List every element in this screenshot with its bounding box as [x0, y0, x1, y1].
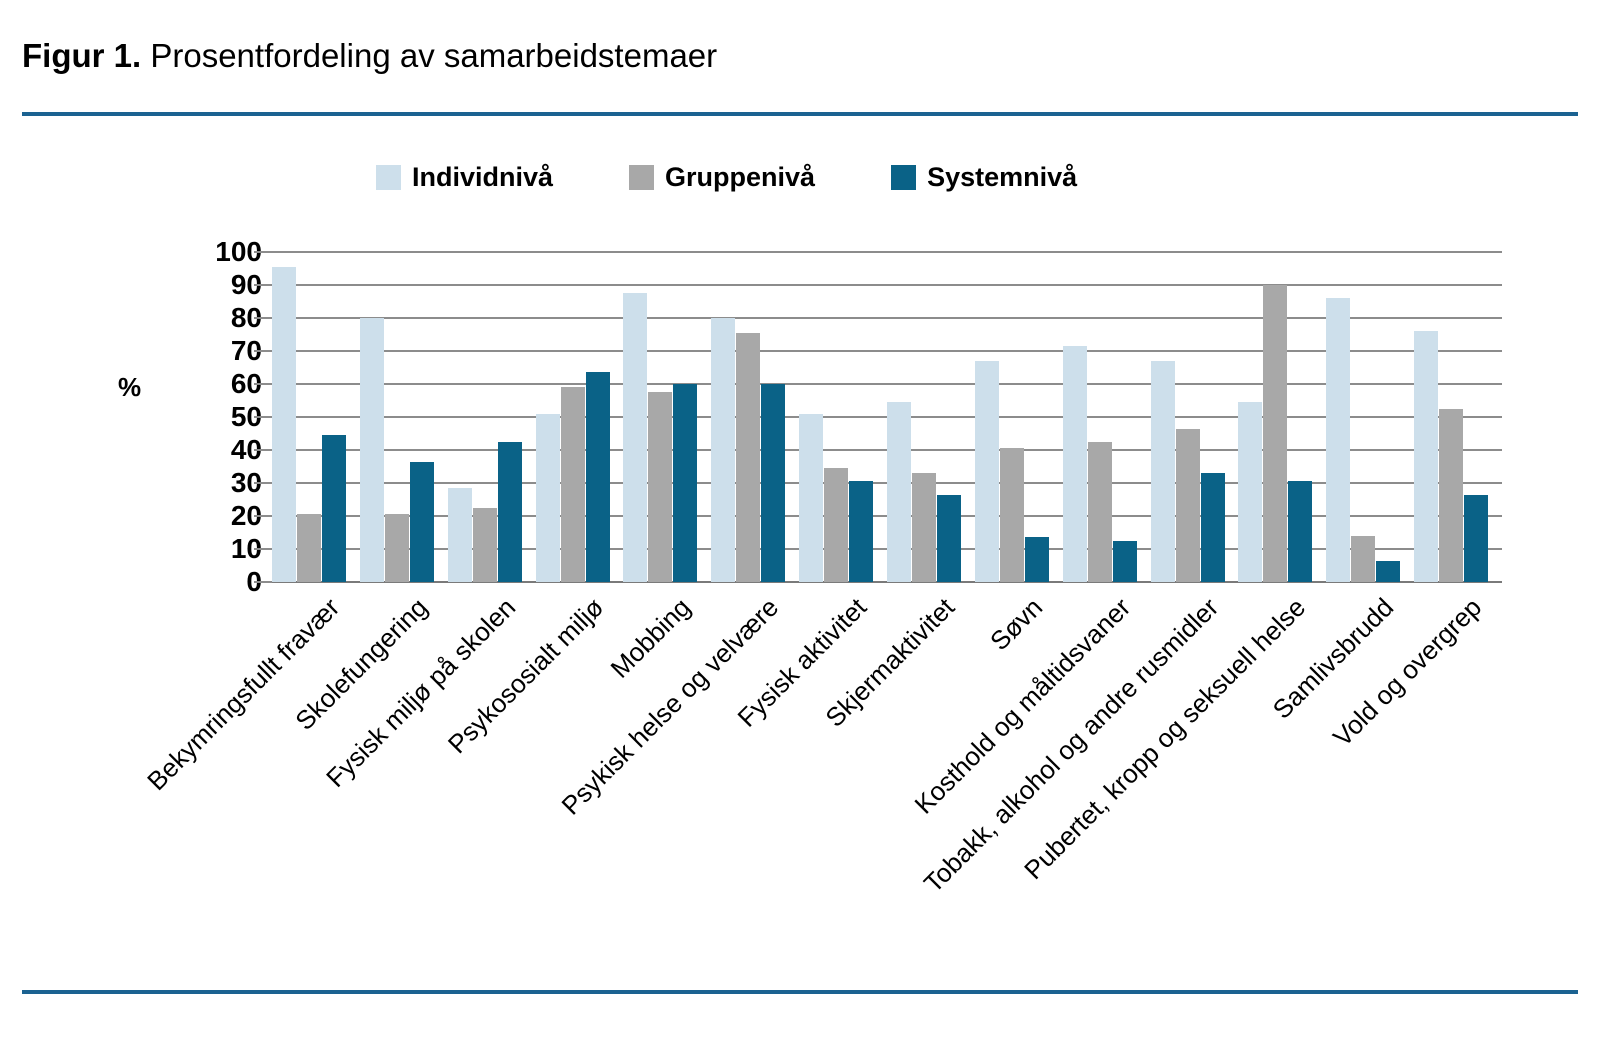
- bar-individniva[interactable]: [887, 402, 911, 582]
- y-tick-mark: [254, 449, 272, 451]
- bar-gruppeniva[interactable]: [561, 387, 585, 582]
- bar-systemniva[interactable]: [1201, 473, 1225, 582]
- bar-group: [272, 252, 360, 582]
- y-tick-mark: [254, 317, 272, 319]
- x-tick-label: Psykososialt miljø: [441, 592, 608, 759]
- bar-group: [623, 252, 711, 582]
- bar-group: [360, 252, 448, 582]
- bar-individniva[interactable]: [1414, 331, 1438, 582]
- bar-group: [448, 252, 536, 582]
- plot-area: [272, 252, 1502, 582]
- bar-gruppeniva[interactable]: [648, 392, 672, 582]
- bar-group: [536, 252, 624, 582]
- bar-gruppeniva[interactable]: [1000, 448, 1024, 582]
- bar-individniva[interactable]: [536, 414, 560, 582]
- x-tick-label: Mobbing: [605, 592, 697, 684]
- y-axis-unit-label: %: [118, 372, 141, 403]
- bar-group: [975, 252, 1063, 582]
- bar-systemniva[interactable]: [322, 435, 346, 582]
- bar-individniva[interactable]: [360, 318, 384, 582]
- bar-individniva[interactable]: [1151, 361, 1175, 582]
- y-tick-mark: [254, 581, 272, 583]
- bar-gruppeniva[interactable]: [1439, 409, 1463, 582]
- bar-gruppeniva[interactable]: [912, 473, 936, 582]
- y-tick-mark: [254, 548, 272, 550]
- y-tick-mark: [254, 350, 272, 352]
- bar-group: [799, 252, 887, 582]
- x-tick-label: Vold og overgrep: [1327, 592, 1487, 752]
- bar-gruppeniva[interactable]: [1088, 442, 1112, 582]
- bar-systemniva[interactable]: [1376, 561, 1400, 582]
- bar-individniva[interactable]: [623, 293, 647, 582]
- y-tick-mark: [254, 383, 272, 385]
- bar-gruppeniva[interactable]: [736, 333, 760, 582]
- bar-chart: % 0102030405060708090100 Bekymringsfullt…: [0, 0, 1600, 1038]
- bar-systemniva[interactable]: [937, 495, 961, 582]
- bar-group: [711, 252, 799, 582]
- bar-individniva[interactable]: [448, 488, 472, 582]
- bar-systemniva[interactable]: [586, 372, 610, 582]
- x-tick-label: Søvn: [984, 592, 1048, 656]
- bar-gruppeniva[interactable]: [824, 468, 848, 582]
- bar-individniva[interactable]: [799, 414, 823, 582]
- bar-systemniva[interactable]: [761, 384, 785, 582]
- y-tick-mark: [254, 251, 272, 253]
- y-axis-tick-labels: 0102030405060708090100: [190, 252, 262, 582]
- bar-individniva[interactable]: [272, 267, 296, 582]
- bar-individniva[interactable]: [975, 361, 999, 582]
- bar-systemniva[interactable]: [1113, 541, 1137, 582]
- bar-gruppeniva[interactable]: [1176, 429, 1200, 582]
- bar-systemniva[interactable]: [410, 462, 434, 582]
- bar-group: [1326, 252, 1414, 582]
- y-tick-mark: [254, 482, 272, 484]
- bar-group: [1063, 252, 1151, 582]
- bar-gruppeniva[interactable]: [1263, 285, 1287, 582]
- bar-individniva[interactable]: [1238, 402, 1262, 582]
- bar-individniva[interactable]: [1326, 298, 1350, 582]
- bar-group: [1414, 252, 1502, 582]
- bar-systemniva[interactable]: [849, 481, 873, 582]
- bar-gruppeniva[interactable]: [473, 508, 497, 582]
- bar-systemniva[interactable]: [1288, 481, 1312, 582]
- bar-groups: [272, 252, 1502, 582]
- y-tick-mark: [254, 416, 272, 418]
- bar-individniva[interactable]: [1063, 346, 1087, 582]
- bar-individniva[interactable]: [711, 318, 735, 582]
- bar-gruppeniva[interactable]: [297, 514, 321, 582]
- bar-systemniva[interactable]: [1025, 537, 1049, 582]
- y-tick-mark: [254, 515, 272, 517]
- y-tick-mark: [254, 284, 272, 286]
- bar-systemniva[interactable]: [673, 384, 697, 582]
- bar-gruppeniva[interactable]: [385, 514, 409, 582]
- bar-systemniva[interactable]: [498, 442, 522, 582]
- bar-gruppeniva[interactable]: [1351, 536, 1375, 582]
- bar-group: [1238, 252, 1326, 582]
- bar-group: [1151, 252, 1239, 582]
- bar-systemniva[interactable]: [1464, 495, 1488, 582]
- bar-group: [887, 252, 975, 582]
